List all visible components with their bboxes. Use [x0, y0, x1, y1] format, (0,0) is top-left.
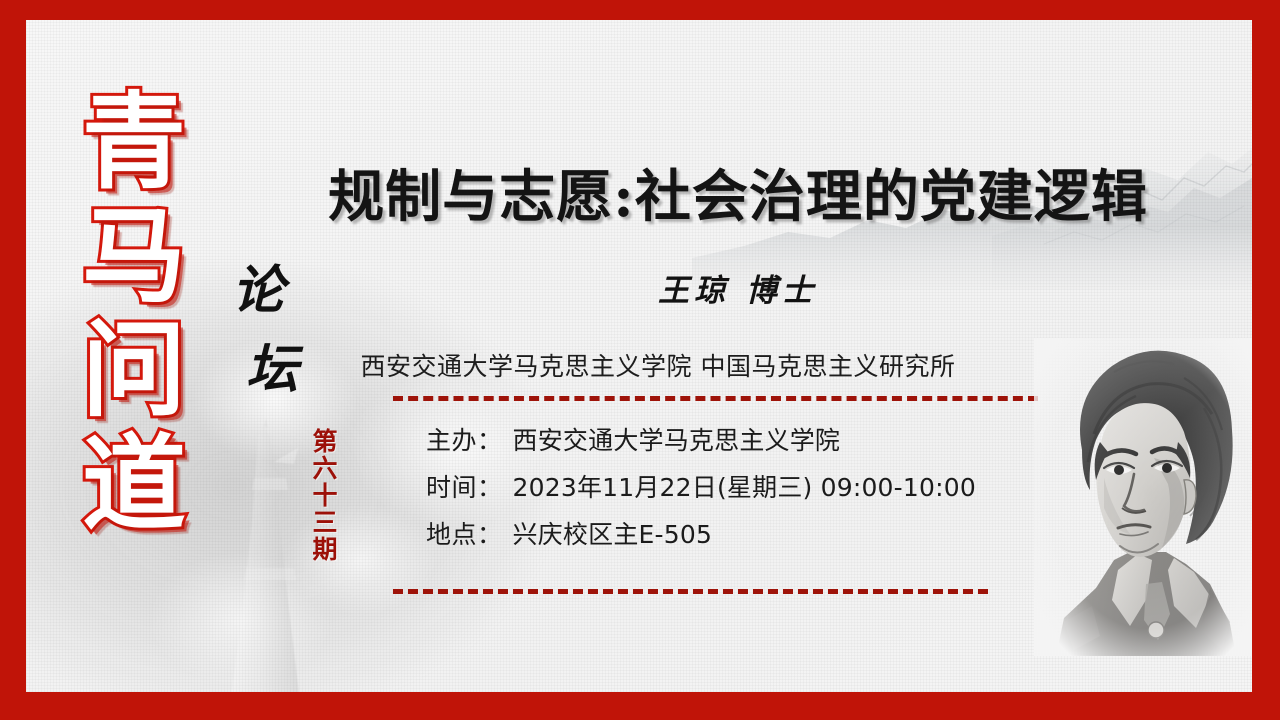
- detail-label-organizer: 主办：: [426, 428, 503, 453]
- karl-marx-portrait-sketch-icon: [1034, 338, 1252, 656]
- detail-row-organizer: 主办： 西安交通大学马克思主义学院: [426, 428, 976, 453]
- brand-vertical-title: 青 马 问 道: [64, 92, 204, 548]
- poster-paper: 青 马 问 道 论 坛 第六十三期 规制与志愿:社会治理的党建逻辑 王琼 博士 …: [26, 20, 1252, 692]
- forum-char-1: 论: [232, 260, 284, 321]
- brand-char-4: 道: [82, 434, 186, 536]
- detail-row-venue: 地点： 兴庆校区主E-505: [426, 522, 976, 547]
- detail-label-time: 时间：: [426, 475, 503, 500]
- brand-char-1: 青: [82, 92, 186, 194]
- detail-label-venue: 地点：: [426, 522, 503, 547]
- lecture-poster: 青 马 问 道 论 坛 第六十三期 规制与志愿:社会治理的党建逻辑 王琼 博士 …: [0, 0, 1280, 720]
- detail-value-organizer: 西安交通大学马克思主义学院: [513, 428, 841, 453]
- speaker-affiliation: 西安交通大学马克思主义学院 中国马克思主义研究所: [288, 347, 1028, 383]
- brand-char-3: 问: [82, 320, 186, 422]
- divider-top: [393, 396, 1038, 401]
- detail-list: 主办： 西安交通大学马克思主义学院 时间： 2023年11月22日(星期三) 0…: [426, 428, 976, 547]
- detail-value-time: 2023年11月22日(星期三) 09:00-10:00: [513, 475, 976, 500]
- divider-bottom: [393, 589, 988, 594]
- detail-row-time: 时间： 2023年11月22日(星期三) 09:00-10:00: [426, 475, 976, 500]
- issue-number: 第六十三期: [308, 428, 338, 563]
- lecture-title: 规制与志愿:社会治理的党建逻辑: [288, 152, 1188, 233]
- detail-value-venue: 兴庆校区主E-505: [513, 522, 713, 547]
- speaker-name: 王琼 博士: [288, 265, 1188, 310]
- brand-char-2: 马: [82, 206, 186, 308]
